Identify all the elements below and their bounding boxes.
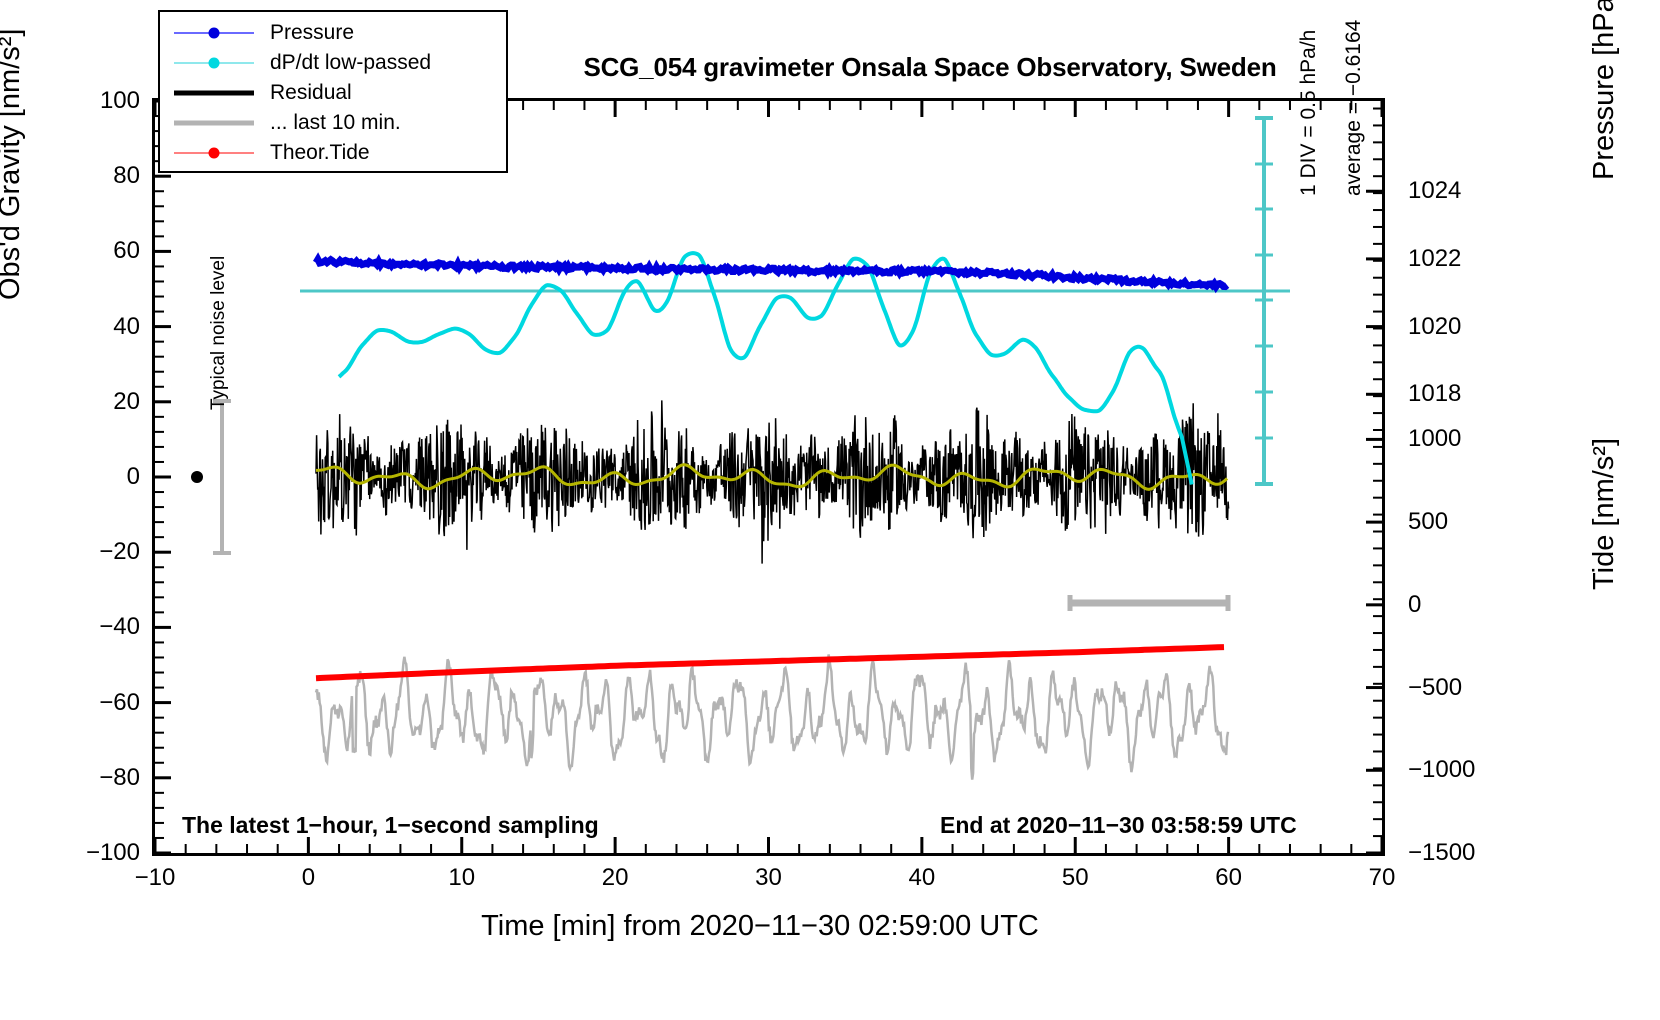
right-ticklabel: −1500 [1408,839,1475,867]
legend-swatch-theortide [174,143,254,163]
x-ticklabel: 70 [1369,864,1396,892]
right-axis-label-tide: Tide [nm/s²] [1588,438,1621,590]
right-ticklabel: 1024 [1408,177,1461,205]
x-ticklabel: 40 [909,864,936,892]
footer-right-note: End at 2020−11−30 03:58:59 UTC [940,812,1297,839]
x-ticklabel: 10 [448,864,475,892]
footer-left-note: The latest 1−hour, 1−second sampling [182,812,599,839]
right-ticklabel: 1020 [1408,313,1461,341]
legend-label-residual: Residual [254,81,352,105]
x-ticklabel: 50 [1062,864,1089,892]
legend-label-pressure: Pressure [254,21,354,45]
legend-item-last10min[interactable]: ... last 10 min. [160,108,506,138]
y-ticklabel: −60 [0,689,140,717]
right-ticklabel: 500 [1408,508,1448,536]
scalebar-average-label: average = −0.6164 [1342,20,1366,196]
legend-item-theortide[interactable]: Theor.Tide [160,138,506,168]
legend-label-theortide: Theor.Tide [254,141,370,165]
y-axis-label: Obs'd Gravity [nm/s²] [0,29,27,300]
y-ticklabel: −20 [0,538,140,566]
legend-item-pressure[interactable]: Pressure [160,18,506,48]
legend-item-dpdt[interactable]: dP/dt low-passed [160,48,506,78]
plot-frame [152,98,1385,856]
page-title: SCG_054 gravimeter Onsala Space Observat… [430,52,1430,83]
y-ticklabel: −80 [0,764,140,792]
x-ticklabel: 30 [755,864,782,892]
y-ticklabel: −40 [0,613,140,641]
right-ticklabel: −500 [1408,674,1462,702]
right-ticklabel: 1000 [1408,425,1461,453]
x-ticklabel: 60 [1215,864,1242,892]
noise-level-label: Typical noise level [208,256,230,410]
legend: Pressure dP/dt low-passed Residual ... l… [158,10,508,173]
right-ticklabel: 1018 [1408,380,1461,408]
right-ticklabel: 1022 [1408,245,1461,273]
x-ticklabel: −10 [135,864,176,892]
legend-label-dpdt: dP/dt low-passed [254,51,431,75]
legend-item-residual[interactable]: Residual [160,78,506,108]
y-ticklabel: 40 [0,313,140,341]
legend-swatch-pressure [174,23,254,43]
legend-swatch-dpdt [174,53,254,73]
y-ticklabel: 0 [0,463,140,491]
legend-label-last10min: ... last 10 min. [254,111,401,135]
scalebar-division-label: 1 DIV = 0.5 hPa/h [1297,30,1321,196]
legend-swatch-last10min [174,113,254,133]
right-axis-label-pressure: Pressure [hPa] [1588,0,1621,180]
y-ticklabel: 20 [0,388,140,416]
right-ticklabel: −1000 [1408,756,1475,784]
legend-swatch-residual [174,83,254,103]
x-ticklabel: 20 [602,864,629,892]
x-ticklabel: 0 [302,864,315,892]
x-axis-label: Time [min] from 2020−11−30 02:59:00 UTC [0,910,1520,943]
y-ticklabel: −100 [0,839,140,867]
right-ticklabel: 0 [1408,591,1421,619]
